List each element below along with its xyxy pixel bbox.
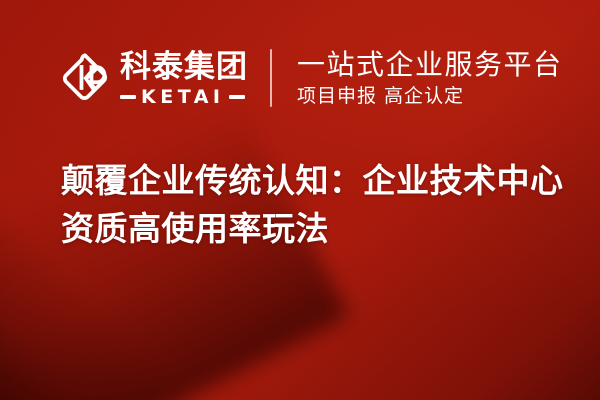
vertical-divider-icon	[270, 49, 272, 107]
logo-company-name-en: KETAI	[141, 87, 224, 107]
promo-banner: 科泰集团 KETAI 一站式企业服务平台 项目申报 高企认定 颠覆企业传统认知：…	[0, 0, 600, 400]
dash-icon	[229, 95, 245, 99]
tagline-sub: 项目申报 高企认定	[297, 85, 563, 107]
banner-header: 科泰集团 KETAI 一站式企业服务平台 项目申报 高企认定	[58, 40, 563, 116]
logo-company-name-cn: 科泰集团	[120, 50, 248, 84]
logo-wordmark: 科泰集团 KETAI	[120, 47, 248, 109]
tagline-main: 一站式企业服务平台	[297, 49, 563, 80]
page-title: 颠覆企业传统认知：企业技术中心资质高使用率玩法	[61, 157, 571, 253]
logo-english-row: KETAI	[120, 87, 248, 107]
tagline-block: 一站式企业服务平台 项目申报 高企认定	[297, 45, 563, 111]
ketai-diamond-kp-monogram-icon	[58, 51, 112, 105]
brand-logo[interactable]: 科泰集团 KETAI	[58, 45, 248, 111]
dash-icon	[120, 95, 136, 99]
